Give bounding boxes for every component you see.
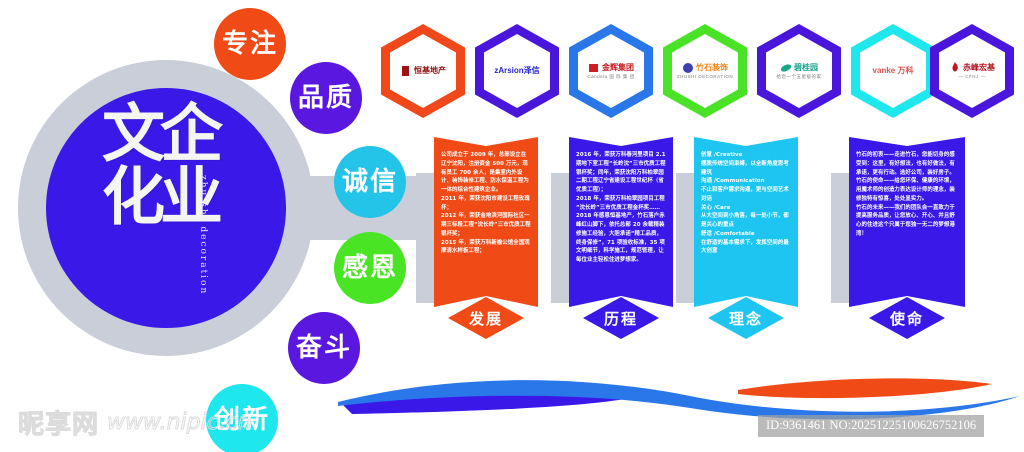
banner-tag[interactable]: 历程 [583, 297, 659, 339]
banner-tag-label: 发展 [469, 308, 503, 329]
banner-tag[interactable]: 理念 [708, 297, 784, 339]
banner-paragraph: 2016 年，荣获万科春河里项目 2.1 期地下室工程“长岭沈”三市优质工程银杯… [576, 151, 666, 265]
partner-logo: 竹石装饰ZHUSHI DECORATION [663, 24, 747, 118]
partner-logo-name: 赤峰宏基 [963, 64, 995, 73]
watermark-id: ID:9361461 NO:20251225100626752106 [758, 415, 984, 437]
partner-logo: zArsion泽信 [475, 24, 559, 118]
partner-hexagon-3[interactable]: 竹石装饰ZHUSHI DECORATION [663, 24, 747, 118]
value-circle-label: 奋斗 [296, 335, 352, 361]
partner-logo-name: vanke 万科 [873, 67, 914, 76]
watermark-url: www.nipic.cn [107, 410, 252, 435]
partner-hexagon-0[interactable]: 恒基地产 [381, 24, 465, 118]
green-leaf-icon [780, 62, 792, 74]
culture-wall-canvas: 企业 文化 zhu shi decoration 专注品质诚信感恩奋斗创新 恒基… [0, 0, 1024, 452]
red-square-icon [588, 62, 600, 74]
content-banner-0[interactable]: 公司成立于 2009 年，总部设立在辽宁沈阳，注册资金 500 万元，现有员工 … [434, 137, 538, 353]
value-circle-label: 感恩 [342, 255, 398, 281]
watermark-site-name: 昵享网 [18, 404, 99, 441]
partner-logo: 碧桂园给您一个五星级的家 [757, 24, 841, 118]
partner-logo-subtitle: ZHUSHI DECORATION [677, 75, 733, 80]
value-circle-1[interactable]: 品质 [290, 62, 362, 134]
red-block-icon [400, 65, 412, 77]
value-circle-3[interactable]: 感恩 [334, 232, 406, 304]
partner-logo: vanke 万科 [851, 24, 935, 118]
partner-hexagon-5[interactable]: vanke 万科 [851, 24, 935, 118]
partner-logo-row: 赤峰宏基 [949, 62, 995, 74]
partner-logo-subtitle: Candela 国 际 集 团 [587, 75, 634, 80]
partner-logo-subtitle: — CFHJ — [959, 75, 986, 80]
content-banner-1[interactable]: 2016 年，荣获万科春河里项目 2.1 期地下室工程“长岭沈”三市优质工程银杯… [569, 137, 673, 353]
content-banner-3[interactable]: 竹石的初衷——走进竹石，您能切身的感受到：这里，有好想法，也有好做法，有承诺，更… [849, 137, 965, 353]
partner-logo: 金辉集团Candela 国 际 集 团 [569, 24, 653, 118]
partner-logo-name: 金辉集团 [602, 64, 634, 73]
partner-logo-row: 金辉集团 [588, 62, 634, 74]
value-circle-2[interactable]: 诚信 [334, 146, 406, 218]
banner-tag[interactable]: 发展 [448, 297, 524, 339]
partner-logo-name: zArsion泽信 [494, 67, 539, 76]
partner-logo-name: 竹石装饰 [696, 64, 728, 73]
emblem-pinyin: zhu shi decoration [198, 175, 208, 295]
partner-hexagon-6[interactable]: 赤峰宏基— CFHJ — [930, 24, 1014, 118]
banner-tag-label: 理念 [729, 308, 763, 329]
partner-logo: 赤峰宏基— CFHJ — [930, 24, 1014, 118]
banner-paragraph: 竹石的初衷——走进竹石，您能切身的感受到：这里，有好想法，也有好做法，有承诺，更… [856, 151, 958, 239]
partner-hexagon-4[interactable]: 碧桂园给您一个五星级的家 [757, 24, 841, 118]
value-circle-label: 专注 [222, 31, 278, 57]
partner-logo-row: vanke 万科 [873, 67, 914, 76]
partner-hexagon-1[interactable]: zArsion泽信 [475, 24, 559, 118]
partner-logo-name: 恒基地产 [414, 67, 446, 76]
value-circle-label: 诚信 [342, 169, 398, 195]
banner-paragraph: 创意 /Creative 摆脱传统空间束缚，以全新角度思考建筑 沟通 /Comm… [701, 151, 791, 256]
banner-tag-label: 历程 [604, 308, 638, 329]
value-circle-label: 品质 [298, 85, 354, 111]
blue-swirl-icon [682, 62, 694, 74]
banner-paragraph: 公司成立于 2009 年，总部设立在辽宁沈阳，注册资金 500 万元，现有员工 … [441, 151, 531, 256]
partner-logo-name: 碧桂园 [794, 64, 818, 73]
red-flame-icon [949, 62, 961, 74]
partner-logo-row: 恒基地产 [400, 65, 446, 77]
partner-logo-row: 碧桂园 [780, 62, 818, 74]
watermark-left: 昵享网 www.nipic.cn [18, 404, 252, 441]
partner-logo-row: zArsion泽信 [494, 67, 539, 76]
partner-logo: 恒基地产 [381, 24, 465, 118]
page-title: 企业 文化 [95, 100, 215, 330]
partner-logo-subtitle: 给您一个五星级的家 [777, 75, 822, 80]
partner-logo-row: 竹石装饰 [682, 62, 728, 74]
content-banner-2[interactable]: 创意 /Creative 摆脱传统空间束缚，以全新角度思考建筑 沟通 /Comm… [694, 137, 798, 353]
value-circle-0[interactable]: 专注 [214, 8, 286, 80]
banner-tag-label: 使命 [890, 308, 924, 329]
partner-hexagon-2[interactable]: 金辉集团Candela 国 际 集 团 [569, 24, 653, 118]
banner-tag[interactable]: 使命 [869, 297, 945, 339]
